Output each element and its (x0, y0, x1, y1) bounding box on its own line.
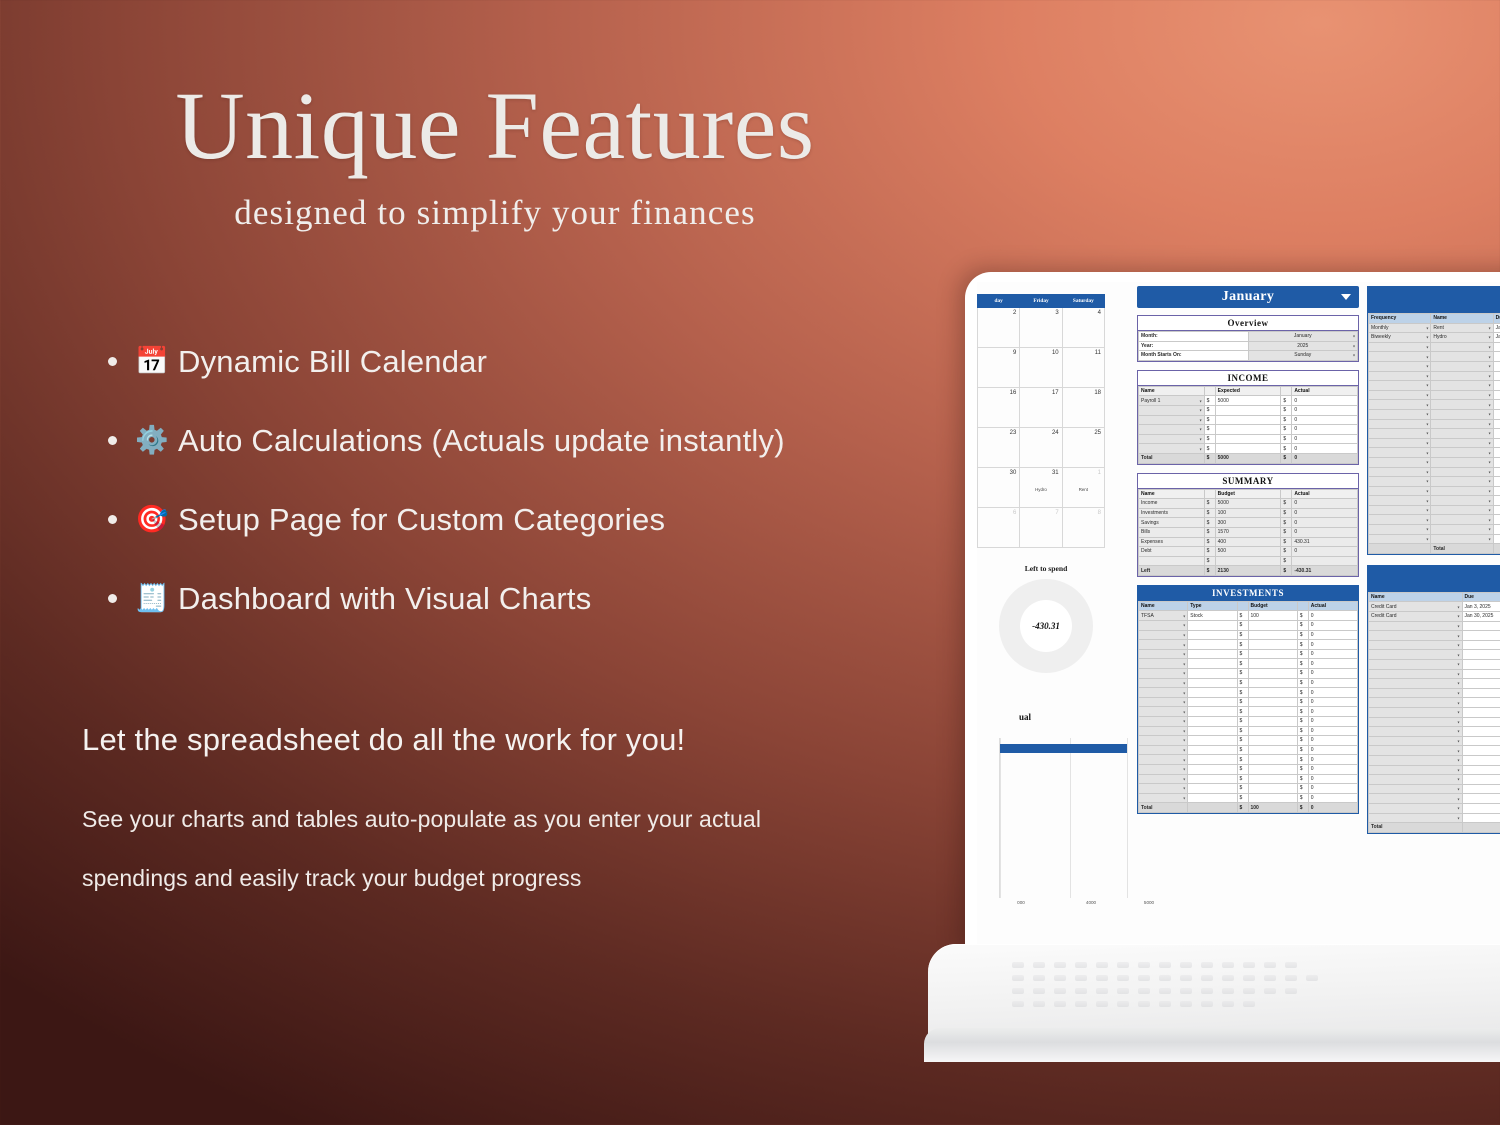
debt-due (1462, 679, 1500, 689)
bill-due (1493, 409, 1500, 419)
bill-frequency[interactable]: ▾ (1369, 381, 1431, 391)
calendar-day[interactable]: 1Rent (1062, 468, 1104, 508)
bill-frequency[interactable]: ▾ (1369, 429, 1431, 439)
bill-name[interactable]: Hydro▾ (1431, 333, 1493, 343)
keyboard-key[interactable] (1138, 975, 1150, 981)
calendar-icon: 📅 (135, 348, 165, 375)
investment-name[interactable]: TFSA▾ (1139, 611, 1188, 621)
chevron-down-icon: ▾ (1457, 604, 1459, 609)
investment-name[interactable]: ▾ (1139, 678, 1188, 688)
table-row: ▾▾ (1369, 486, 1500, 496)
investment-name[interactable]: ▾ (1139, 784, 1188, 794)
income-title: INCOME (1138, 371, 1358, 386)
debt-name[interactable]: Credit Card▾ (1369, 612, 1463, 622)
bill-frequency[interactable]: ▾ (1369, 352, 1431, 362)
chevron-down-icon: ▾ (1200, 427, 1202, 432)
keyboard-key[interactable] (1243, 975, 1255, 981)
debt-name[interactable]: ▾ (1369, 784, 1463, 794)
table-row: ▾$$0 (1139, 405, 1358, 415)
table-cell: $ (1281, 415, 1292, 425)
table-cell: $ (1237, 726, 1248, 736)
debt-head: NameDue (1369, 592, 1500, 602)
bill-frequency[interactable]: ▾ (1369, 515, 1431, 525)
keyboard-key[interactable] (1117, 988, 1129, 994)
keyboard-key[interactable] (1054, 988, 1066, 994)
bill-name[interactable]: ▾ (1431, 525, 1493, 535)
bill-name[interactable]: ▾ (1431, 419, 1493, 429)
table-row: ▾$$0 (1139, 717, 1358, 727)
calendar-weekday: day (978, 295, 1020, 308)
calendar-day[interactable]: 23 (978, 428, 1020, 468)
investment-name[interactable]: ▾ (1139, 649, 1188, 659)
calendar-day[interactable]: 31Hydro (1020, 468, 1062, 508)
table-row: ▾$$0 (1139, 669, 1358, 679)
calendar-day[interactable]: 4 (1062, 308, 1104, 348)
income-name[interactable]: Payroll 1▾ (1139, 396, 1205, 406)
calendar-week: 678 (978, 508, 1105, 548)
bill-name[interactable]: ▾ (1431, 352, 1493, 362)
bill-frequency[interactable]: ▾ (1369, 496, 1431, 506)
investment-actual: 0 (1308, 745, 1357, 755)
bill-frequency[interactable]: ▾ (1369, 419, 1431, 429)
column-header: Type (1188, 601, 1237, 611)
keyboard-key[interactable] (1243, 962, 1255, 968)
keyboard-key[interactable] (1033, 962, 1045, 968)
bills-head: FrequencyNameDue (1369, 314, 1500, 324)
keyboard-key[interactable] (1159, 975, 1171, 981)
bill-name[interactable]: ▾ (1431, 467, 1493, 477)
table-cell: $ (1297, 745, 1308, 755)
debt-name[interactable]: ▾ (1369, 631, 1463, 641)
chevron-down-icon: ▾ (1426, 517, 1428, 522)
investment-name[interactable]: ▾ (1139, 707, 1188, 717)
income-name[interactable]: ▾ (1139, 444, 1205, 454)
table-cell: $ (1281, 547, 1292, 557)
income-actual: 0 (1292, 434, 1358, 444)
table-row: Credit Card▾Jan 30, 2025 (1369, 612, 1500, 622)
bill-due (1493, 505, 1500, 515)
calendar-day[interactable]: 7 (1020, 508, 1062, 548)
bill-name[interactable]: ▾ (1431, 390, 1493, 400)
keyboard-key[interactable] (1138, 1001, 1150, 1007)
calendar-day[interactable]: 30 (978, 468, 1020, 508)
investment-name[interactable]: ▾ (1139, 736, 1188, 746)
bill-name[interactable]: ▾ (1431, 438, 1493, 448)
debt-name[interactable]: ▾ (1369, 660, 1463, 670)
keyboard-key[interactable] (1012, 975, 1024, 981)
calendar-day[interactable]: 18 (1062, 388, 1104, 428)
chevron-down-icon: ▾ (1489, 393, 1491, 398)
bar-chart-axis: 000 4000 5000 (999, 898, 1127, 910)
calendar-day[interactable]: 25 (1062, 428, 1104, 468)
table-cell: $ (1281, 508, 1292, 518)
calendar-day[interactable]: 6 (978, 508, 1020, 548)
gear-icon: ⚙️ (135, 427, 165, 454)
calendar-table: day Friday Saturday 23491011161718232425… (977, 294, 1105, 548)
chevron-down-icon: ▾ (1426, 421, 1428, 426)
chevron-down-icon: ▾ (1489, 364, 1491, 369)
column-header: Frequency (1369, 314, 1431, 324)
investment-actual: 0 (1308, 755, 1357, 765)
keyboard-key[interactable] (1117, 1001, 1129, 1007)
month-selector[interactable]: January (1137, 286, 1359, 308)
debt-name[interactable]: ▾ (1369, 717, 1463, 727)
investments-body: TFSA▾Stock$100$0▾$$0▾$$0▾$$0▾$$0▾$$0▾$$0… (1139, 611, 1358, 812)
income-expected: 5000 (1215, 396, 1281, 406)
bill-frequency[interactable]: ▾ (1369, 448, 1431, 458)
investment-budget (1248, 736, 1297, 746)
bill-frequency[interactable]: ▾ (1369, 457, 1431, 467)
chevron-down-icon: ▾ (1489, 498, 1491, 503)
debt-name[interactable]: ▾ (1369, 803, 1463, 813)
feature-label: Setup Page for Custom Categories (178, 502, 665, 538)
keyboard-key[interactable] (1033, 975, 1045, 981)
bill-name[interactable]: ▾ (1431, 534, 1493, 544)
chevron-down-icon: ▾ (1489, 536, 1491, 541)
table-row: Investments$100$0 (1139, 508, 1358, 518)
keyboard-key[interactable] (1201, 975, 1213, 981)
investment-type (1188, 678, 1237, 688)
table-row: ▾$$0 (1139, 678, 1358, 688)
debt-name[interactable]: ▾ (1369, 707, 1463, 717)
bill-due (1493, 448, 1500, 458)
page-subtitle: designed to simplify your finances (0, 193, 990, 233)
investment-type (1188, 630, 1237, 640)
table-header-row: NameDue (1369, 592, 1500, 602)
chevron-down-icon: ▾ (1457, 767, 1459, 772)
investment-type (1188, 774, 1237, 784)
income-name[interactable]: ▾ (1139, 415, 1205, 425)
table-row: ▾▾ (1369, 534, 1500, 544)
keyboard-key[interactable] (1285, 988, 1297, 994)
table-row: Year:2025▾ (1139, 341, 1358, 351)
keyboard-key[interactable] (1180, 988, 1192, 994)
income-name[interactable]: ▾ (1139, 425, 1205, 435)
debt-name[interactable]: ▾ (1369, 688, 1463, 698)
income-expected (1215, 405, 1281, 415)
table-cell (1369, 544, 1431, 554)
overview-panel: Overview Month:January▾Year:2025▾Month S… (1137, 315, 1359, 362)
bill-frequency[interactable]: ▾ (1369, 467, 1431, 477)
keyboard-key[interactable] (1180, 962, 1192, 968)
investment-name[interactable]: ▾ (1139, 688, 1188, 698)
table-row: ▾$$0 (1139, 425, 1358, 435)
keyboard-key[interactable] (1201, 962, 1213, 968)
summary-name: Bills (1139, 527, 1205, 537)
axis-tick: 4000 (1086, 900, 1096, 905)
investment-name[interactable]: ▾ (1139, 640, 1188, 650)
summary-table: NameBudgetActual Income$5000$0Investment… (1138, 489, 1358, 576)
left-to-spend-value: -430.31 (1020, 600, 1072, 652)
table-cell: $ (1204, 499, 1215, 509)
debt-name[interactable]: ▾ (1369, 650, 1463, 660)
investment-name[interactable]: ▾ (1139, 774, 1188, 784)
debt-name[interactable]: ▾ (1369, 698, 1463, 708)
keyboard-key[interactable] (1264, 962, 1276, 968)
calendar-day[interactable]: 9 (978, 348, 1020, 388)
keyboard-key[interactable] (1222, 975, 1234, 981)
bill-name[interactable]: Rent▾ (1431, 323, 1493, 333)
investment-name[interactable]: ▾ (1139, 659, 1188, 669)
table-row: Debt$500$0 (1139, 547, 1358, 557)
calendar-day[interactable]: 16 (978, 388, 1020, 428)
keyboard-key[interactable] (1306, 975, 1318, 981)
bill-frequency[interactable]: ▾ (1369, 361, 1431, 371)
calendar-day[interactable]: 11 (1062, 348, 1104, 388)
table-row: ▾▾ (1369, 457, 1500, 467)
chevron-down-icon: ▾ (1426, 460, 1428, 465)
chevron-down-icon: ▾ (1457, 681, 1459, 686)
column-header (1204, 386, 1215, 396)
keyboard-key[interactable] (1222, 962, 1234, 968)
table-cell: $ (1297, 755, 1308, 765)
overview-value[interactable]: January▾ (1248, 332, 1358, 342)
column-header (1237, 601, 1248, 611)
bill-frequency[interactable]: ▾ (1369, 342, 1431, 352)
table-row: ▾$$0 (1139, 755, 1358, 765)
debt-due (1462, 669, 1500, 679)
debt-name[interactable]: Credit Card▾ (1369, 602, 1463, 612)
table-row: ▾$$0 (1139, 621, 1358, 631)
keyboard-key[interactable] (1138, 988, 1150, 994)
investment-name[interactable]: ▾ (1139, 669, 1188, 679)
calendar-day[interactable]: 10 (1020, 348, 1062, 388)
bill-frequency[interactable]: ▾ (1369, 400, 1431, 410)
overview-value[interactable]: 2025▾ (1248, 341, 1358, 351)
debt-due: Jan 3, 2025 (1462, 602, 1500, 612)
table-cell: $ (1237, 659, 1248, 669)
calendar-day[interactable]: 3 (1020, 308, 1062, 348)
keyboard-key[interactable] (1159, 988, 1171, 994)
table-cell (1188, 803, 1237, 813)
calendar-day[interactable]: 8 (1062, 508, 1104, 548)
keyboard-key[interactable] (1264, 988, 1276, 994)
investment-name[interactable]: ▾ (1139, 630, 1188, 640)
bill-name[interactable]: ▾ (1431, 457, 1493, 467)
table-row: ▾ (1369, 775, 1500, 785)
table-cell (1493, 544, 1500, 554)
bill-name[interactable]: ▾ (1431, 371, 1493, 381)
bills-body: Monthly▾Rent▾JanBiweekly▾Hydro▾Jan▾▾▾▾▾▾… (1369, 323, 1500, 553)
investment-actual: 0 (1308, 649, 1357, 659)
summary-budget (1215, 556, 1281, 566)
debt-name[interactable]: ▾ (1369, 755, 1463, 765)
overview-value[interactable]: Sunday▾ (1248, 351, 1358, 361)
keyboard-key[interactable] (1180, 975, 1192, 981)
debt-name[interactable]: ▾ (1369, 669, 1463, 679)
debt-name[interactable]: ▾ (1369, 621, 1463, 631)
keyboard-key[interactable] (1033, 988, 1045, 994)
keyboard-key[interactable] (1285, 975, 1297, 981)
summary-budget: 400 (1215, 537, 1281, 547)
keyboard-key[interactable] (1054, 1001, 1066, 1007)
income-expected (1215, 425, 1281, 435)
bill-name[interactable]: ▾ (1431, 361, 1493, 371)
debt-name[interactable]: ▾ (1369, 746, 1463, 756)
keyboard-key[interactable] (1075, 988, 1087, 994)
keyboard-key[interactable] (1075, 962, 1087, 968)
chevron-down-icon: ▾ (1183, 748, 1185, 753)
keyboard-key[interactable] (1159, 1001, 1171, 1007)
chevron-down-icon: ▾ (1457, 748, 1459, 753)
debt-name[interactable]: ▾ (1369, 640, 1463, 650)
bill-frequency[interactable]: ▾ (1369, 534, 1431, 544)
bill-name[interactable]: ▾ (1431, 477, 1493, 487)
keyboard-key[interactable] (1096, 962, 1108, 968)
bill-frequency[interactable]: ▾ (1369, 390, 1431, 400)
bill-name[interactable]: ▾ (1431, 400, 1493, 410)
bill-frequency[interactable]: ▾ (1369, 525, 1431, 535)
keyboard-key[interactable] (1012, 988, 1024, 994)
keyboard-key[interactable] (1054, 975, 1066, 981)
table-row: ▾$$0 (1139, 745, 1358, 755)
laptop-base (928, 944, 1500, 1062)
keyboard-key[interactable] (1117, 962, 1129, 968)
bill-frequency[interactable]: ▾ (1369, 477, 1431, 487)
keyboard-key[interactable] (1201, 1001, 1213, 1007)
bill-name[interactable]: ▾ (1431, 486, 1493, 496)
table-cell: $ (1237, 688, 1248, 698)
summary-actual: 0 (1292, 527, 1358, 537)
bill-due (1493, 352, 1500, 362)
investment-actual: 0 (1308, 764, 1357, 774)
bullet-dot (108, 357, 117, 366)
column-header: Name (1431, 314, 1493, 324)
investments-title: INVESTMENTS (1138, 586, 1358, 601)
investment-name[interactable]: ▾ (1139, 697, 1188, 707)
total-actual: 0 (1308, 803, 1357, 813)
calendar-day[interactable]: 2 (978, 308, 1020, 348)
bill-frequency[interactable]: ▾ (1369, 438, 1431, 448)
table-cell: $ (1297, 707, 1308, 717)
total-label: Total (1369, 823, 1463, 833)
chevron-down-icon: ▾ (1183, 728, 1185, 733)
spreadsheet-app: day Friday Saturday 23491011161718232425… (977, 282, 1500, 954)
bill-frequency[interactable]: ▾ (1369, 409, 1431, 419)
keyboard-key[interactable] (1117, 975, 1129, 981)
keyboard-key[interactable] (1138, 962, 1150, 968)
income-name[interactable]: ▾ (1139, 405, 1205, 415)
keyboard-key[interactable] (1075, 1001, 1087, 1007)
chevron-down-icon: ▾ (1426, 431, 1428, 436)
keyboard-row (1000, 988, 1500, 994)
investment-budget (1248, 726, 1297, 736)
bill-frequency[interactable]: Biweekly▾ (1369, 333, 1431, 343)
investment-name[interactable]: ▾ (1139, 621, 1188, 631)
investment-actual: 0 (1308, 707, 1357, 717)
table-row: ▾▾ (1369, 477, 1500, 487)
chevron-down-icon: ▾ (1457, 671, 1459, 676)
bill-name[interactable]: ▾ (1431, 342, 1493, 352)
table-row: Monthly▾Rent▾Jan (1369, 323, 1500, 333)
summary-name: Income (1139, 499, 1205, 509)
keyboard-key[interactable] (1012, 962, 1024, 968)
bill-name[interactable]: ▾ (1431, 505, 1493, 515)
keyboard-key[interactable] (1180, 1001, 1192, 1007)
chevron-down-icon: ▾ (1457, 691, 1459, 696)
debt-table: NameDue Credit Card▾Jan 3, 2025Credit Ca… (1368, 592, 1500, 833)
keyboard-key[interactable] (1243, 1001, 1255, 1007)
bill-name[interactable]: ▾ (1431, 448, 1493, 458)
debt-name[interactable]: ▾ (1369, 765, 1463, 775)
table-cell: $ (1204, 415, 1215, 425)
chevron-down-icon: ▾ (1426, 335, 1428, 340)
chevron-down-icon: ▾ (1457, 796, 1459, 801)
keyboard-key[interactable] (1033, 1001, 1045, 1007)
debt-name[interactable]: ▾ (1369, 736, 1463, 746)
investment-name[interactable]: ▾ (1139, 717, 1188, 727)
keyboard-key[interactable] (1054, 962, 1066, 968)
table-row: Expenses$400$430.31 (1139, 537, 1358, 547)
debt-name[interactable]: ▾ (1369, 679, 1463, 689)
keyboard-key[interactable] (1075, 975, 1087, 981)
bill-frequency[interactable]: Monthly▾ (1369, 323, 1431, 333)
keyboard-key[interactable] (1096, 975, 1108, 981)
chevron-down-icon: ▾ (1489, 431, 1491, 436)
investment-name[interactable]: ▾ (1139, 793, 1188, 803)
income-expected (1215, 415, 1281, 425)
income-name[interactable]: ▾ (1139, 434, 1205, 444)
investment-actual: 0 (1308, 784, 1357, 794)
keyboard-key[interactable] (1243, 988, 1255, 994)
debt-name[interactable]: ▾ (1369, 775, 1463, 785)
summary-actual (1292, 556, 1358, 566)
bill-name[interactable]: ▾ (1431, 429, 1493, 439)
summary-actual: 0 (1292, 518, 1358, 528)
keyboard-key[interactable] (1096, 988, 1108, 994)
debt-name[interactable]: ▾ (1369, 813, 1463, 823)
investment-type (1188, 717, 1237, 727)
calendar-day[interactable]: 24 (1020, 428, 1062, 468)
investment-name[interactable]: ▾ (1139, 726, 1188, 736)
table-row: Month:January▾ (1139, 332, 1358, 342)
bill-name[interactable]: ▾ (1431, 515, 1493, 525)
bill-name[interactable]: ▾ (1431, 496, 1493, 506)
table-header-row: NameExpectedActual (1139, 386, 1358, 396)
debt-title: DE (1368, 566, 1500, 592)
income-actual: 0 (1292, 415, 1358, 425)
keyboard-key[interactable] (1012, 1001, 1024, 1007)
investment-name[interactable]: ▾ (1139, 764, 1188, 774)
keyboard-key[interactable] (1264, 975, 1276, 981)
keyboard-key[interactable] (1222, 1001, 1234, 1007)
bill-frequency[interactable]: ▾ (1369, 371, 1431, 381)
keyboard-key[interactable] (1222, 988, 1234, 994)
chevron-down-icon: ▾ (1200, 398, 1202, 403)
keyboard-key[interactable] (1285, 962, 1297, 968)
bill-name[interactable]: ▾ (1431, 381, 1493, 391)
summary-title: SUMMARY (1138, 474, 1358, 489)
investment-name[interactable]: ▾ (1139, 745, 1188, 755)
chevron-down-icon: ▾ (1426, 488, 1428, 493)
calendar-day[interactable]: 17 (1020, 388, 1062, 428)
table-cell: $ (1297, 630, 1308, 640)
keyboard-key[interactable] (1096, 1001, 1108, 1007)
bill-name[interactable]: ▾ (1431, 409, 1493, 419)
summary-name: Debt (1139, 547, 1205, 557)
debt-name[interactable]: ▾ (1369, 794, 1463, 804)
debt-name[interactable]: ▾ (1369, 727, 1463, 737)
income-expected (1215, 444, 1281, 454)
table-cell: $ (1204, 444, 1215, 454)
keyboard-key[interactable] (1159, 962, 1171, 968)
keyboard-key[interactable] (1201, 988, 1213, 994)
bill-frequency[interactable]: ▾ (1369, 505, 1431, 515)
investment-name[interactable]: ▾ (1139, 755, 1188, 765)
bill-frequency[interactable]: ▾ (1369, 486, 1431, 496)
chevron-down-icon: ▾ (1183, 671, 1185, 676)
table-cell: $ (1204, 425, 1215, 435)
